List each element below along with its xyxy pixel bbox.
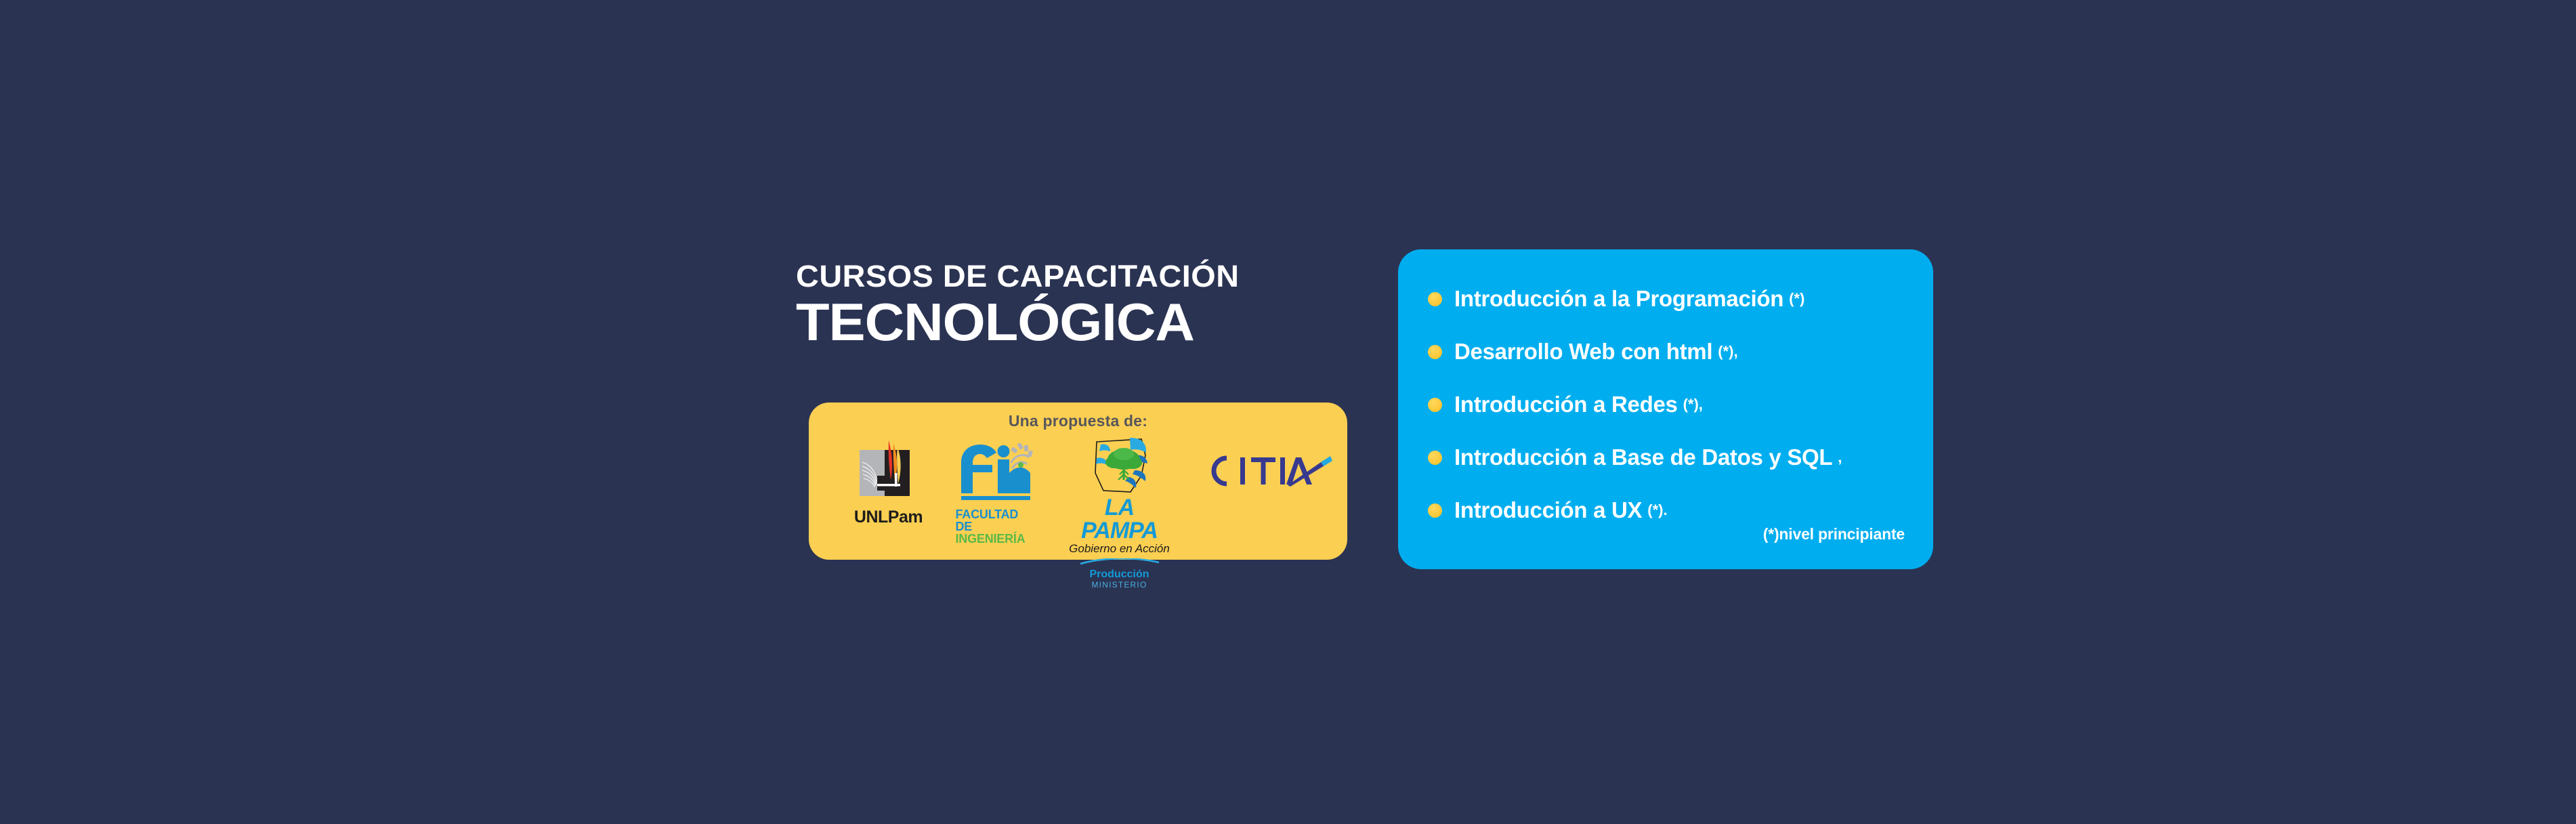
bullet-dot-icon (1428, 292, 1442, 306)
course-level-marker: (*), (1718, 343, 1737, 360)
course-level-marker: (*). (1647, 501, 1667, 519)
course-name: Introducción a UX (1454, 497, 1642, 523)
facultad-caption-line-1: FACULTAD DE (956, 508, 1036, 533)
courses-list: Introducción a la Programación (*) Desar… (1428, 272, 1913, 537)
bullet-dot-icon (1428, 503, 1442, 518)
course-level-marker: (*), (1683, 396, 1703, 413)
poster-canvas: CURSOS DE CAPACITACIÓN TECNOLÓGICA Una p… (0, 0, 2576, 824)
page-title: CURSOS DE CAPACITACIÓN TECNOLÓGICA (796, 261, 1345, 350)
course-name: Introducción a Redes (1454, 392, 1678, 417)
course-level-marker: (*) (1789, 290, 1804, 308)
sponsors-heading: Una propuesta de: (809, 412, 1347, 430)
list-item[interactable]: Introducción a Base de Datos y SQL , (1428, 431, 1913, 484)
course-name: Introducción a Base de Datos y SQL (1454, 445, 1832, 470)
citia-icon (1204, 450, 1332, 492)
sponsor-logo-row: UNLPam (809, 435, 1347, 557)
list-item[interactable]: Desarrollo Web con html (*), (1428, 325, 1913, 378)
bullet-dot-icon (1428, 398, 1442, 412)
la-pampa-swoosh-icon (1079, 558, 1160, 565)
facultad-ingenieria-icon (956, 435, 1036, 506)
sponsor-logo-citia (1204, 435, 1332, 495)
sponsors-panel: Una propuesta de: (809, 403, 1347, 560)
title-line-2: TECNOLÓGICA (796, 295, 1366, 350)
la-pampa-tagline: Gobierno en Acción (1065, 543, 1174, 556)
title-line-1: CURSOS DE CAPACITACIÓN (796, 261, 1366, 291)
unlpam-icon (851, 435, 926, 506)
facultad-caption-line-2: INGENIERÍA (956, 533, 1036, 545)
courses-panel: Introducción a la Programación (*) Desar… (1398, 249, 1933, 569)
course-name: Desarrollo Web con html (1454, 339, 1712, 365)
course-level-marker: , (1838, 449, 1842, 466)
sponsor-logo-la-pampa: LA PAMPA Gobierno en Acción Producción M… (1065, 435, 1174, 590)
la-pampa-ministry-label: MINISTERIO (1065, 580, 1174, 590)
unlpam-wordmark: UNLPam (851, 508, 926, 527)
headline-column: CURSOS DE CAPACITACIÓN TECNOLÓGICA (796, 261, 1351, 350)
list-item[interactable]: Introducción a la Programación (*) (1428, 272, 1913, 325)
courses-footnote: (*)nivel principiante (1763, 525, 1905, 543)
bullet-dot-icon (1428, 451, 1442, 465)
la-pampa-icon (1065, 435, 1174, 497)
sponsor-logo-unlpam: UNLPam (851, 435, 926, 527)
course-name: Introducción a la Programación (1454, 286, 1783, 312)
facultad-ingenieria-caption: FACULTAD DE INGENIERÍA (956, 508, 1036, 545)
sponsor-logo-facultad-ingenieria: FACULTAD DE INGENIERÍA (956, 435, 1036, 545)
bullet-dot-icon (1428, 345, 1442, 359)
la-pampa-ministry-name: Producción (1065, 569, 1174, 581)
la-pampa-wordmark: LA PAMPA (1065, 496, 1174, 542)
list-item[interactable]: Introducción a Redes (*), (1428, 378, 1913, 431)
